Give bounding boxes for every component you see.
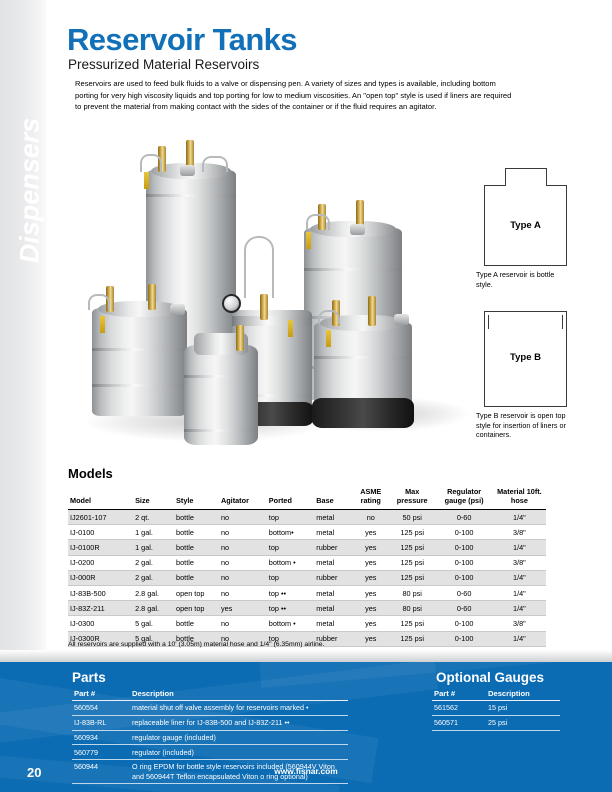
col-gauge-part-number: Part # <box>432 688 486 701</box>
table-cell: metal <box>314 601 352 616</box>
tank-band <box>304 268 402 271</box>
table-cell: IJ-83Z-211 <box>68 601 133 616</box>
brass-fitting <box>236 325 244 351</box>
col-model: Model <box>68 486 133 510</box>
parts-header-row: Part # Description <box>72 688 348 701</box>
table-cell: regulator gauge (included) <box>130 730 348 745</box>
table-row: IJ-83B-5002.8 gal.open topnotop ••metaly… <box>68 585 546 600</box>
gauges-table-head: Part # Description <box>432 688 560 701</box>
table-cell: yes <box>353 616 389 631</box>
table-cell: bottle <box>174 510 219 525</box>
table-cell: metal <box>314 510 352 525</box>
table-row: 560779regulator (included) <box>72 745 348 760</box>
col-gauge-description: Description <box>486 688 560 701</box>
yellow-tag <box>326 330 331 347</box>
table-cell: bottle <box>174 540 219 555</box>
table-cell: rubber <box>314 570 352 585</box>
diagram-open-edge-right <box>562 315 563 329</box>
col-agitator: Agitator <box>219 486 267 510</box>
brass-fitting <box>368 296 376 326</box>
section-tab-dispensers: Dispensers <box>0 0 47 745</box>
table-cell: no <box>219 555 267 570</box>
parts-table-head: Part # Description <box>72 688 348 701</box>
models-heading: Models <box>68 466 113 481</box>
catalog-page: Dispensers Reservoir Tanks Pressurized M… <box>0 0 612 792</box>
table-row: 560554material shut off valve assembly f… <box>72 701 348 716</box>
tank-clamp-ring <box>232 316 312 326</box>
table-cell: 3/8" <box>493 616 546 631</box>
table-cell: bottle <box>174 570 219 585</box>
table-cell: 125 psi <box>389 616 435 631</box>
table-cell: 0-100 <box>435 525 492 540</box>
col-regulator: Regulator gauge (psi) <box>435 486 492 510</box>
valve-knob <box>170 304 185 315</box>
table-cell: yes <box>353 555 389 570</box>
table-cell: IJ-83B-RL <box>72 715 130 730</box>
carry-handle <box>306 214 330 230</box>
valve-knob <box>180 165 195 176</box>
table-cell: regulator (included) <box>130 745 348 760</box>
diagram-type-b: Type B <box>484 311 567 407</box>
table-cell: no <box>219 510 267 525</box>
tank-body <box>92 308 187 416</box>
table-cell: no <box>219 540 267 555</box>
table-row: IJ-01001 gal.bottlenobottom•metalyes125 … <box>68 525 546 540</box>
table-cell: no <box>219 585 267 600</box>
table-row: 560934regulator gauge (included) <box>72 730 348 745</box>
table-cell: yes <box>353 631 389 646</box>
table-cell: 0-60 <box>435 585 492 600</box>
table-row: IJ2601-1072 qt.bottlenotopmetalno50 psi0… <box>68 510 546 525</box>
table-cell: 125 psi <box>389 555 435 570</box>
yellow-tag <box>306 232 311 249</box>
diagram-caption-type-a: Type A reservoir is bottle style. <box>476 270 568 289</box>
col-ported: Ported <box>267 486 314 510</box>
table-cell: no <box>219 525 267 540</box>
table-cell: top •• <box>267 585 314 600</box>
page-subtitle: Pressurized Material Reservoirs <box>68 57 259 72</box>
table-cell: IJ2601-107 <box>68 510 133 525</box>
tank-squat-left <box>92 308 187 416</box>
table-cell: top <box>267 570 314 585</box>
table-cell: bottom • <box>267 616 314 631</box>
page-title: Reservoir Tanks <box>67 22 297 58</box>
tank-small-bottle <box>184 345 258 445</box>
table-cell: yes <box>219 601 267 616</box>
table-cell: 2 gal. <box>133 570 174 585</box>
diagram-open-edge-left <box>488 315 489 329</box>
tank-front-right <box>314 322 412 422</box>
table-cell: bottle <box>174 616 219 631</box>
tank-band <box>314 356 412 359</box>
models-table: Model Size Style Agitator Ported Base AS… <box>68 486 546 647</box>
carry-handle <box>318 310 340 324</box>
models-table-head: Model Size Style Agitator Ported Base AS… <box>68 486 546 510</box>
table-cell: bottle <box>174 555 219 570</box>
table-cell: 1 gal. <box>133 540 174 555</box>
table-row: 56156215 psi <box>432 701 560 716</box>
section-tab-label: Dispensers <box>15 66 46 316</box>
yellow-tag <box>100 316 105 333</box>
table-cell: 2.8 gal. <box>133 601 174 616</box>
table-cell: 1/4" <box>493 601 546 616</box>
product-photo <box>72 130 470 450</box>
diagram-label: Type B <box>484 352 567 363</box>
table-cell: metal <box>314 555 352 570</box>
table-cell: bottom • <box>267 555 314 570</box>
table-row: IJ-83B-RLreplaceable liner for IJ-83B-50… <box>72 715 348 730</box>
table-cell: IJ-0200 <box>68 555 133 570</box>
table-cell: 1/4" <box>493 631 546 646</box>
table-cell: 15 psi <box>486 701 560 716</box>
table-cell: IJ-83B-500 <box>68 585 133 600</box>
table-cell: 125 psi <box>389 540 435 555</box>
table-cell: 5 gal. <box>133 616 174 631</box>
table-cell: 125 psi <box>389 525 435 540</box>
table-cell: metal <box>314 525 352 540</box>
table-cell: 0-100 <box>435 570 492 585</box>
table-cell: 0-100 <box>435 540 492 555</box>
table-cell: 2.8 gal. <box>133 585 174 600</box>
table-row: IJ-02002 gal.bottlenobottom •metalyes125… <box>68 555 546 570</box>
carry-handle <box>202 156 228 172</box>
table-cell: 561562 <box>432 701 486 716</box>
tank-band <box>146 194 236 197</box>
valve-knob <box>394 314 409 325</box>
table-cell: 80 psi <box>389 585 435 600</box>
table-cell: yes <box>353 525 389 540</box>
parts-heading: Parts <box>72 670 106 685</box>
table-cell: 0-60 <box>435 510 492 525</box>
models-header-row: Model Size Style Agitator Ported Base AS… <box>68 486 546 510</box>
yellow-tag <box>144 172 149 189</box>
gauges-table: Part # Description 56156215 psi56057125 … <box>432 688 560 731</box>
pressure-gauge <box>222 294 241 313</box>
table-cell: 0-100 <box>435 616 492 631</box>
table-cell: 25 psi <box>486 715 560 730</box>
panel-divider <box>0 650 612 662</box>
table-cell: 0-100 <box>435 631 492 646</box>
tank-band <box>184 429 258 432</box>
table-cell: 560554 <box>72 701 130 716</box>
models-table-note: All reservoirs are supplied with a 10' (… <box>68 641 324 648</box>
diagram-neck <box>505 168 547 186</box>
tank-base-black <box>312 398 414 428</box>
tank-band <box>184 375 258 378</box>
table-cell: no <box>219 570 267 585</box>
intro-paragraph: Reservoirs are used to feed bulk fluids … <box>75 78 512 113</box>
col-description: Description <box>130 688 348 701</box>
table-cell: 1 gal. <box>133 525 174 540</box>
table-cell: top <box>267 540 314 555</box>
col-hose: Material 10ft. hose <box>493 486 546 510</box>
table-cell: 1/4" <box>493 510 546 525</box>
valve-knob <box>350 224 365 235</box>
tank-band <box>92 384 187 387</box>
table-cell: 0-60 <box>435 601 492 616</box>
table-cell: 2 gal. <box>133 555 174 570</box>
col-size: Size <box>133 486 174 510</box>
table-cell: 1/4" <box>493 570 546 585</box>
table-cell: 1/4" <box>493 585 546 600</box>
table-cell: IJ-0100 <box>68 525 133 540</box>
table-cell: open top <box>174 585 219 600</box>
table-cell: 50 psi <box>389 510 435 525</box>
gauges-table-body: 56156215 psi56057125 psi <box>432 701 560 731</box>
table-cell: yes <box>353 570 389 585</box>
diagram-type-a: Type A <box>484 185 567 266</box>
table-cell: 3/8" <box>493 555 546 570</box>
col-asme: ASME rating <box>353 486 389 510</box>
col-part-number: Part # <box>72 688 130 701</box>
table-row: 56057125 psi <box>432 715 560 730</box>
table-cell: no <box>353 510 389 525</box>
table-cell: replaceable liner for IJ-83B-500 and IJ-… <box>130 715 348 730</box>
table-cell: top <box>267 510 314 525</box>
table-cell: 560779 <box>72 745 130 760</box>
brass-fitting <box>148 284 156 310</box>
models-table-body: IJ2601-1072 qt.bottlenotopmetalno50 psi0… <box>68 510 546 647</box>
table-cell: 560571 <box>432 715 486 730</box>
table-cell: 3/8" <box>493 525 546 540</box>
table-cell: open top <box>174 601 219 616</box>
diagram-caption-type-b: Type B reservoir is open top style for i… <box>476 411 572 440</box>
table-cell: IJ-0300 <box>68 616 133 631</box>
table-cell: 80 psi <box>389 601 435 616</box>
table-cell: 560934 <box>72 730 130 745</box>
table-cell: 125 psi <box>389 570 435 585</box>
table-cell: bottom• <box>267 525 314 540</box>
table-cell: yes <box>353 585 389 600</box>
table-row: IJ-000R2 gal.bottlenotoprubberyes125 psi… <box>68 570 546 585</box>
carry-handle <box>88 294 110 310</box>
table-row: IJ-0100R1 gal.bottlenotoprubberyes125 ps… <box>68 540 546 555</box>
table-cell: rubber <box>314 540 352 555</box>
table-cell: metal <box>314 616 352 631</box>
table-cell: yes <box>353 540 389 555</box>
yellow-tag <box>288 320 293 337</box>
table-cell: 125 psi <box>389 631 435 646</box>
table-row: IJ-03005 gal.bottlenobottom •metalyes125… <box>68 616 546 631</box>
table-cell: 1/4" <box>493 540 546 555</box>
table-cell: 0-100 <box>435 555 492 570</box>
col-style: Style <box>174 486 219 510</box>
table-cell: 2 qt. <box>133 510 174 525</box>
carry-handle <box>140 154 162 172</box>
gauges-heading: Optional Gauges <box>436 670 544 685</box>
col-base: Base <box>314 486 352 510</box>
col-max-press: Max pressure <box>389 486 435 510</box>
table-cell: top •• <box>267 601 314 616</box>
table-cell: IJ-0100R <box>68 540 133 555</box>
table-cell: bottle <box>174 525 219 540</box>
footer-url: www.fisnar.com <box>0 766 612 776</box>
tank-band <box>92 348 187 351</box>
table-cell: material shut off valve assembly for res… <box>130 701 348 716</box>
table-row: IJ-83Z-2112.8 gal.open topyestop ••metal… <box>68 601 546 616</box>
table-cell: no <box>219 616 267 631</box>
table-cell: yes <box>353 601 389 616</box>
diagram-label: Type A <box>484 220 567 231</box>
table-cell: IJ-000R <box>68 570 133 585</box>
table-cell: metal <box>314 585 352 600</box>
gauges-header-row: Part # Description <box>432 688 560 701</box>
agitator-arm <box>244 236 274 298</box>
